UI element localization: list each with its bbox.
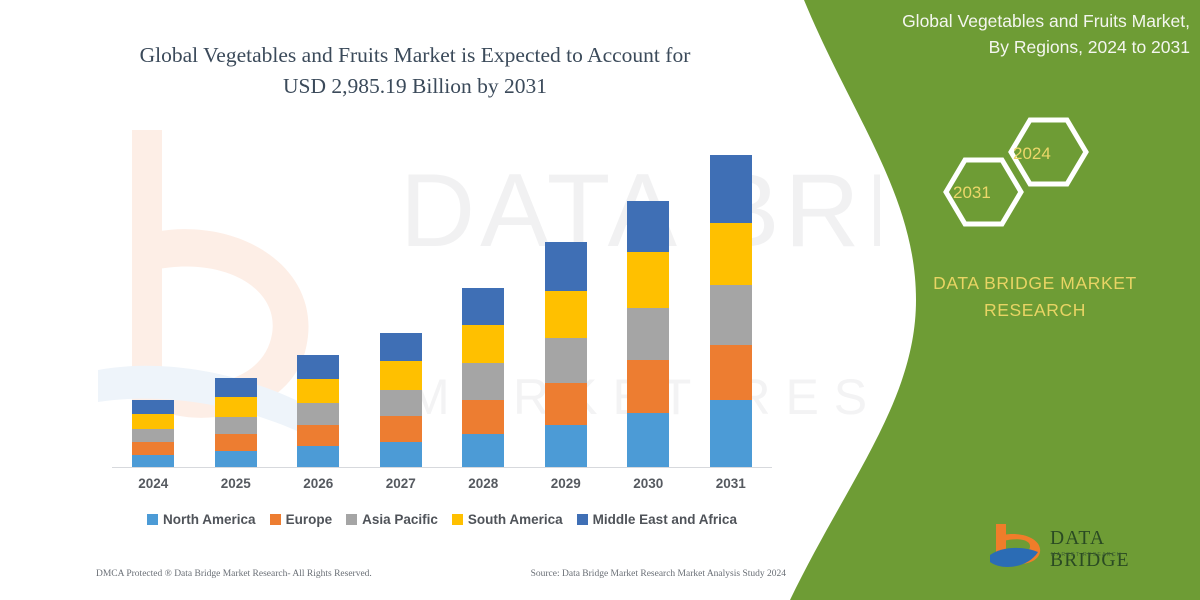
legend-item[interactable]: Asia Pacific	[346, 512, 438, 527]
brand-name: DATA BRIDGE MARKET RESEARCH	[890, 270, 1180, 324]
bar-group-2024[interactable]	[132, 400, 174, 468]
legend-swatch-icon	[346, 514, 357, 525]
bar-group-2025[interactable]	[215, 378, 257, 468]
x-tick-2027: 2027	[361, 476, 441, 491]
bar-segment[interactable]	[710, 155, 752, 223]
x-tick-2025: 2025	[196, 476, 276, 491]
legend-label: North America	[163, 512, 256, 527]
bar-segment[interactable]	[710, 400, 752, 468]
data-bridge-logo: DATA BRIDGE MARKET RESEARCH	[988, 522, 1178, 580]
bar-segment[interactable]	[462, 400, 504, 434]
bar-segment[interactable]	[297, 355, 339, 379]
stacked-bar-plot	[112, 130, 772, 468]
legend-label: Middle East and Africa	[593, 512, 737, 527]
legend-label: South America	[468, 512, 563, 527]
x-tick-2031: 2031	[691, 476, 771, 491]
bar-segment[interactable]	[297, 425, 339, 446]
x-tick-2030: 2030	[608, 476, 688, 491]
bar-segment[interactable]	[132, 429, 174, 442]
logo-name: DATA BRIDGE	[1050, 528, 1178, 572]
bar-segment[interactable]	[215, 451, 257, 468]
logo-subtitle: MARKET RESEARCH	[1051, 552, 1122, 558]
bar-group-2028[interactable]	[462, 288, 504, 468]
legend-item[interactable]: North America	[147, 512, 256, 527]
hexagon-outline-icon	[925, 112, 1125, 232]
legend-label: Asia Pacific	[362, 512, 438, 527]
bar-group-2029[interactable]	[545, 242, 587, 468]
bar-segment[interactable]	[297, 379, 339, 403]
page-title-line-2: USD 2,985.19 Billion by 2031	[70, 71, 760, 102]
bar-segment[interactable]	[545, 291, 587, 338]
brand-name-line-2: RESEARCH	[890, 297, 1180, 324]
bar-segment[interactable]	[545, 425, 587, 468]
bar-segment[interactable]	[627, 360, 669, 413]
bar-segment[interactable]	[215, 378, 257, 397]
footer-source: Source: Data Bridge Market Research Mark…	[531, 569, 786, 579]
bar-segment[interactable]	[215, 397, 257, 417]
bar-segment[interactable]	[462, 325, 504, 363]
bar-segment[interactable]	[132, 400, 174, 414]
bar-segment[interactable]	[380, 390, 422, 416]
hex-label-2024: 2024	[1013, 144, 1051, 164]
bar-segment[interactable]	[215, 434, 257, 451]
legend-swatch-icon	[452, 514, 463, 525]
legend-swatch-icon	[147, 514, 158, 525]
x-tick-2024: 2024	[113, 476, 193, 491]
right-panel-title-line-1: Global Vegetables and Fruits Market,	[840, 8, 1190, 34]
bar-segment[interactable]	[710, 285, 752, 345]
bar-group-2027[interactable]	[380, 333, 422, 468]
bar-segment[interactable]	[132, 414, 174, 429]
bar-segment[interactable]	[380, 416, 422, 442]
bar-segment[interactable]	[545, 338, 587, 383]
legend-item[interactable]: South America	[452, 512, 563, 527]
legend-item[interactable]: Middle East and Africa	[577, 512, 737, 527]
bar-segment[interactable]	[545, 242, 587, 291]
bar-group-2031[interactable]	[710, 155, 752, 468]
bar-segment[interactable]	[380, 333, 422, 361]
hex-label-2031: 2031	[953, 183, 991, 203]
chart-legend: North AmericaEuropeAsia PacificSouth Ame…	[112, 512, 772, 527]
bar-segment[interactable]	[462, 288, 504, 325]
legend-swatch-icon	[270, 514, 281, 525]
bar-segment[interactable]	[297, 403, 339, 425]
bar-segment[interactable]	[132, 442, 174, 455]
legend-swatch-icon	[577, 514, 588, 525]
bar-segment[interactable]	[627, 413, 669, 468]
brand-name-line-1: DATA BRIDGE MARKET	[890, 270, 1180, 297]
x-tick-2029: 2029	[526, 476, 606, 491]
bar-segment[interactable]	[215, 417, 257, 434]
data-bridge-mark-icon	[988, 522, 1050, 574]
bar-group-2030[interactable]	[627, 201, 669, 468]
footer: DMCA Protected ® Data Bridge Market Rese…	[96, 569, 786, 579]
chart-panel: Global Vegetables and Fruits Market is E…	[0, 0, 820, 600]
bar-group-2026[interactable]	[297, 355, 339, 468]
page-title: Global Vegetables and Fruits Market is E…	[70, 40, 760, 102]
x-axis-tick-labels: 20242025202620272028202920302031	[112, 476, 772, 500]
footer-copyright: DMCA Protected ® Data Bridge Market Rese…	[96, 569, 372, 579]
x-tick-2026: 2026	[278, 476, 358, 491]
x-tick-2028: 2028	[443, 476, 523, 491]
bar-segment[interactable]	[380, 442, 422, 468]
x-axis-line	[112, 467, 772, 468]
bar-segment[interactable]	[462, 434, 504, 468]
bar-segment[interactable]	[710, 345, 752, 400]
bar-segment[interactable]	[545, 383, 587, 425]
bar-segment[interactable]	[297, 446, 339, 468]
legend-item[interactable]: Europe	[270, 512, 333, 527]
infographic-root: DATA BRIDGE MARKET RESEARCH Global Veget…	[0, 0, 1200, 600]
bar-segment[interactable]	[380, 361, 422, 390]
hexagon-badges: 2024 2031	[925, 112, 1125, 232]
bar-segment[interactable]	[627, 201, 669, 252]
bar-segment[interactable]	[627, 308, 669, 360]
legend-label: Europe	[286, 512, 333, 527]
bar-segment[interactable]	[710, 223, 752, 285]
bar-segment[interactable]	[627, 252, 669, 308]
page-title-line-1: Global Vegetables and Fruits Market is E…	[70, 40, 760, 71]
bar-segment[interactable]	[462, 363, 504, 400]
right-panel-title: Global Vegetables and Fruits Market, By …	[840, 8, 1190, 60]
right-panel-title-line-2: By Regions, 2024 to 2031	[840, 34, 1190, 60]
